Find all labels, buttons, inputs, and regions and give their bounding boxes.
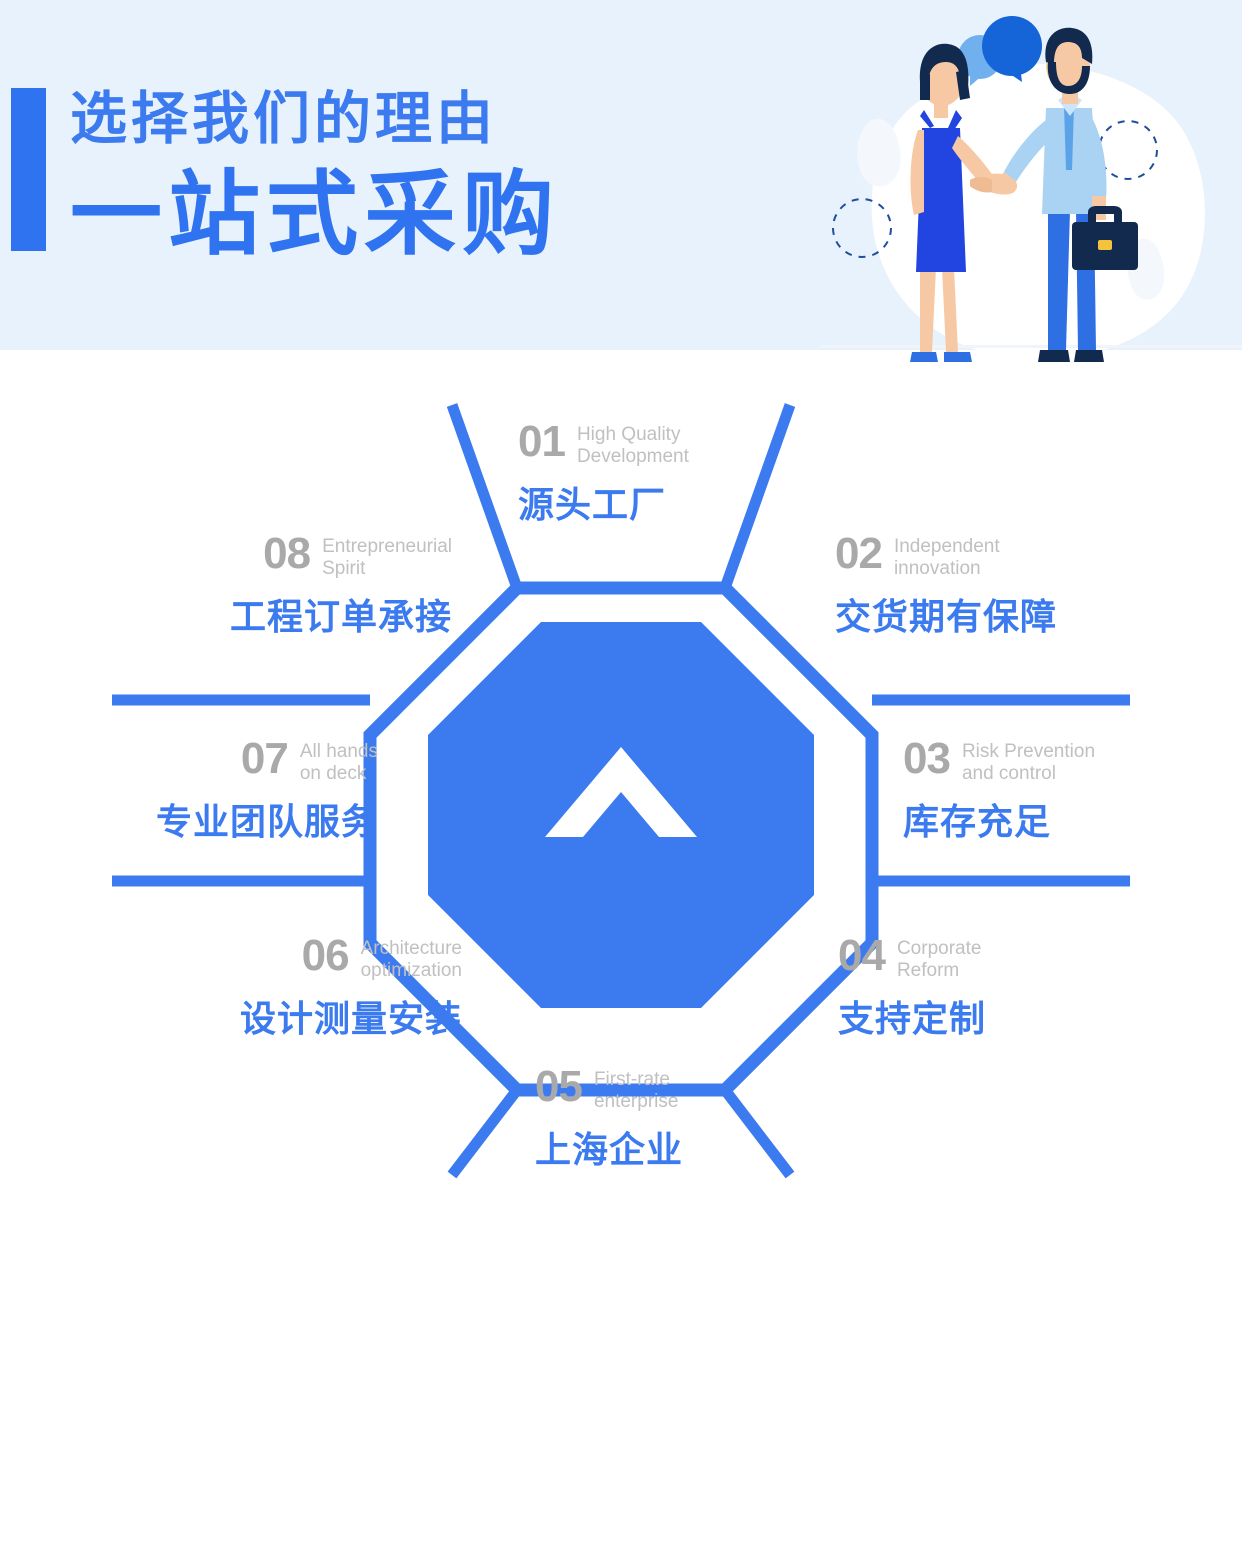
- feature-04-title: 支持定制: [838, 990, 986, 1042]
- feature-item-05[interactable]: 05 First-rate enterprise 上海企业: [535, 1065, 683, 1173]
- header-subtitle: 选择我们的理由: [70, 88, 497, 150]
- feature-item-03[interactable]: 03 Risk Prevention and control 库存充足: [903, 737, 1095, 845]
- feature-04-head: 04 Corporate Reform: [838, 934, 986, 982]
- feature-05-caption-line1: First-rate: [594, 1069, 679, 1091]
- feature-03-caption-line1: Risk Prevention: [962, 741, 1095, 763]
- feature-item-01[interactable]: 01 High Quality Development 源头工厂: [518, 420, 689, 528]
- feature-05-caption-line2: enterprise: [594, 1091, 679, 1113]
- feature-item-04[interactable]: 04 Corporate Reform 支持定制: [838, 934, 986, 1042]
- feature-06-number: 06: [302, 934, 349, 978]
- feature-05-caption: First-rate enterprise: [594, 1065, 679, 1113]
- feature-item-06[interactable]: 06 Architecture optimization 设计测量安装: [0, 934, 462, 1042]
- feature-08-head: 08 Entrepreneurial Spirit: [0, 532, 452, 580]
- feature-08-number: 08: [263, 532, 310, 576]
- feature-02-head: 02 Independent innovation: [835, 532, 1057, 580]
- feature-08-title: 工程订单承接: [0, 588, 452, 640]
- feature-06-head: 06 Architecture optimization: [0, 934, 462, 982]
- feature-03-caption-line2: and control: [962, 763, 1095, 785]
- feature-01-head: 01 High Quality Development: [518, 420, 689, 468]
- feature-08-caption: Entrepreneurial Spirit: [322, 532, 452, 580]
- feature-05-head: 05 First-rate enterprise: [535, 1065, 683, 1113]
- feature-05-number: 05: [535, 1065, 582, 1109]
- feature-01-caption: High Quality Development: [577, 420, 689, 468]
- header-accent-bar: [11, 88, 46, 251]
- feature-item-07[interactable]: 07 All hands on deck 专业团队服务: [0, 737, 378, 845]
- feature-03-number: 03: [903, 737, 950, 781]
- feature-02-caption-line1: Independent: [894, 536, 1000, 558]
- feature-07-caption-line1: All hands: [300, 741, 378, 763]
- feature-item-08[interactable]: 08 Entrepreneurial Spirit 工程订单承接: [0, 532, 452, 640]
- octagon-core: [428, 622, 814, 1008]
- header-banner: 选择我们的理由 一站式采购: [0, 0, 1242, 350]
- feature-03-head: 03 Risk Prevention and control: [903, 737, 1095, 785]
- feature-07-number: 07: [241, 737, 288, 781]
- feature-07-head: 07 All hands on deck: [0, 737, 378, 785]
- page-title: 一站式采购: [70, 163, 560, 267]
- feature-04-caption-line2: Reform: [897, 960, 982, 982]
- feature-07-caption: All hands on deck: [300, 737, 378, 785]
- feature-06-caption-line2: optimization: [361, 960, 462, 982]
- feature-03-caption: Risk Prevention and control: [962, 737, 1095, 785]
- business-handshake-illustration: [820, 0, 1242, 390]
- center-brand-label: 赞枫实业: [541, 1500, 701, 1555]
- spoke-top-right: [725, 405, 790, 588]
- feature-06-caption: Architecture optimization: [361, 934, 462, 982]
- feature-04-number: 04: [838, 934, 885, 978]
- feature-04-caption: Corporate Reform: [897, 934, 982, 982]
- feature-01-caption-line1: High Quality: [577, 424, 689, 446]
- feature-07-caption-line2: on deck: [300, 763, 378, 785]
- feature-08-caption-line1: Entrepreneurial: [322, 536, 452, 558]
- feature-01-caption-line2: Development: [577, 446, 689, 468]
- feature-08-caption-line2: Spirit: [322, 558, 452, 580]
- feature-01-title: 源头工厂: [518, 476, 689, 528]
- feature-06-caption-line1: Architecture: [361, 938, 462, 960]
- feature-03-title: 库存充足: [903, 793, 1095, 845]
- spoke-bottom-left: [452, 1090, 517, 1175]
- feature-07-title: 专业团队服务: [0, 793, 378, 845]
- feature-item-02[interactable]: 02 Independent innovation 交货期有保障: [835, 532, 1057, 640]
- spoke-bottom-right: [725, 1090, 790, 1175]
- feature-02-caption-line2: innovation: [894, 558, 1000, 580]
- feature-04-caption-line1: Corporate: [897, 938, 982, 960]
- feature-01-number: 01: [518, 420, 565, 464]
- spoke-top-left: [452, 405, 517, 588]
- feature-02-number: 02: [835, 532, 882, 576]
- feature-06-title: 设计测量安装: [0, 990, 462, 1042]
- feature-02-title: 交货期有保障: [835, 588, 1057, 640]
- feature-02-caption: Independent innovation: [894, 532, 1000, 580]
- feature-05-title: 上海企业: [535, 1121, 683, 1173]
